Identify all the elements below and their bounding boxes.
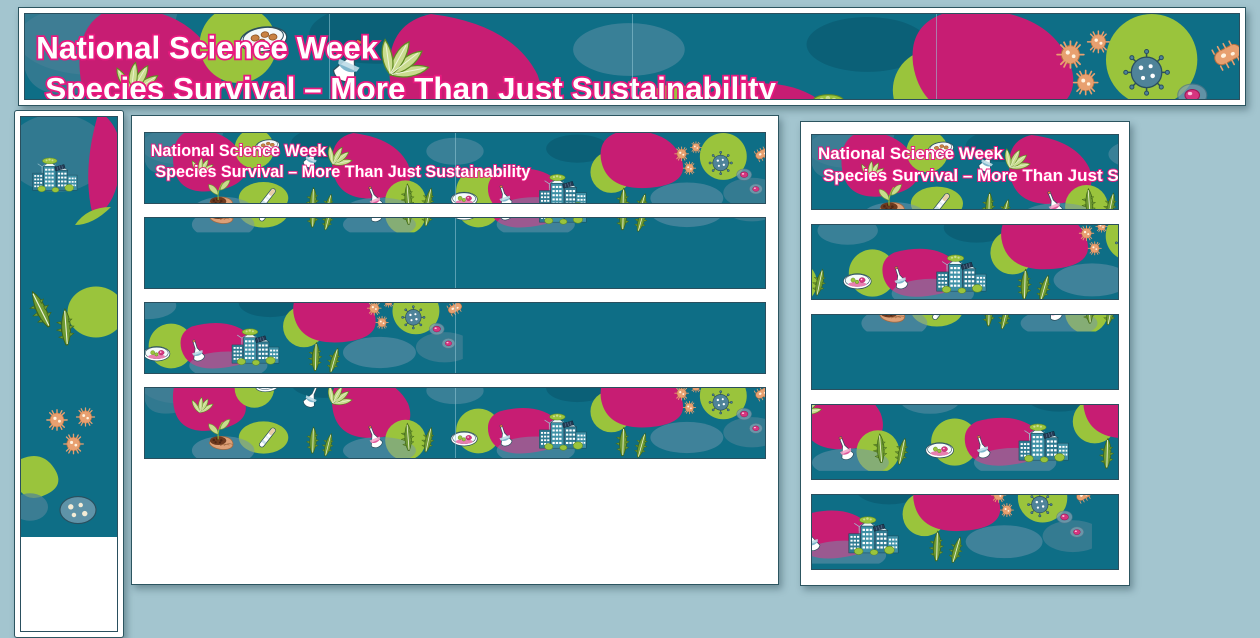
banner-title-line1: National Science Week [36,31,379,66]
right-multi-strip-sheet[interactable]: National Science Week Species Survival –… [800,121,1130,586]
right-strip-1-title1: National Science Week [818,144,1003,163]
right-strip-1[interactable]: National Science Week Species Survival –… [811,134,1119,210]
top-banner-preview[interactable]: National Science Week Species Survival –… [18,7,1246,106]
right-strip-5-art [811,494,1092,564]
center-strip-4[interactable] [144,387,766,459]
center-strip-3[interactable] [144,302,766,374]
banner-title-line2: Species Survival – More Than Just Sustai… [45,71,776,100]
right-strip-2[interactable]: Species Survival – More Than Just Sustai… [811,224,1119,300]
center-strip-4-art [145,387,766,458]
left-vertical-preview[interactable] [14,110,124,638]
portrait-art-canvas [21,117,118,537]
center-strip-2-art: Species Survival – More Than Just Sustai… [145,217,766,232]
banner-art-canvas: National Science Week Species Survival –… [25,14,1240,100]
center-multi-strip-sheet[interactable]: National Science Week Species Survival –… [131,115,779,585]
left-panel-artwork [20,116,118,632]
center-strip-1[interactable]: National Science Week Species Survival –… [144,132,766,204]
right-strip-4-art [811,404,1119,471]
right-strip-3[interactable]: Species Survival – More Than Just Sustai… [811,314,1119,390]
center-strip-1-title2: Species Survival – More Than Just Sustai… [155,163,530,181]
right-strip-1-title2: Species Survival – More Than Just Sustai… [823,166,1119,185]
center-strip-1-title1: National Science Week [151,142,327,160]
top-banner-artwork: National Science Week Species Survival –… [24,13,1240,100]
center-strip-3-art [144,302,463,373]
right-strip-3-art: Species Survival – More Than Just Sustai… [812,314,1119,331]
right-strip-5[interactable] [811,494,1119,570]
right-strip-2-art: Species Survival – More Than Just Sustai… [811,224,1119,300]
right-strip-4[interactable] [811,404,1119,480]
center-strip-1-art: National Science Week Species Survival –… [145,133,766,204]
center-strip-2[interactable]: Species Survival – More Than Just Sustai… [144,217,766,289]
right-strip-1-art: National Science Week Species Survival –… [812,135,1119,210]
